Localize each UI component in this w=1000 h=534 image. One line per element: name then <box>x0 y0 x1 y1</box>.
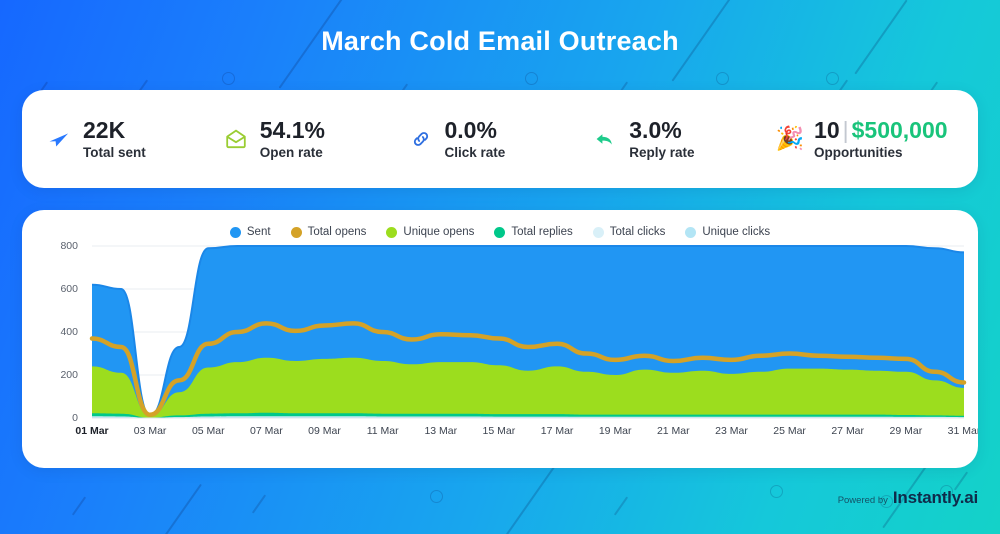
x-axis-tick: 17 Mar <box>541 425 574 437</box>
metric-label: Click rate <box>445 145 506 160</box>
metric-value: 54.1% <box>260 118 325 143</box>
x-axis-tick: 07 Mar <box>250 425 283 437</box>
send-icon <box>46 126 72 152</box>
x-axis-tick: 15 Mar <box>483 425 516 437</box>
x-axis-tick: 09 Mar <box>308 425 341 437</box>
x-axis-tick: 31 Mar <box>948 425 978 437</box>
legend-item-total-replies[interactable]: Total replies <box>494 226 572 238</box>
x-axis-tick: 03 Mar <box>134 425 167 437</box>
chart-plot-area: 8006004002000 01 Mar03 Mar05 Mar07 Mar09… <box>22 238 978 453</box>
envelope-icon <box>223 126 249 152</box>
metric-reply-rate: 3.0%Reply rate <box>568 118 753 161</box>
area-chart-svg <box>22 238 978 453</box>
x-axis-tick: 01 Mar <box>75 425 108 437</box>
metric-value-number: 0.0% <box>445 117 497 143</box>
legend-color-dot <box>685 227 696 238</box>
legend-label: Unique opens <box>403 226 474 238</box>
brand-name: Instantly.ai <box>893 488 978 508</box>
metric-value-number: 3.0% <box>629 117 681 143</box>
reply-icon <box>592 126 618 152</box>
metric-value-number: 10 <box>814 117 840 143</box>
x-axis-tick: 29 Mar <box>890 425 923 437</box>
legend-color-dot <box>386 227 397 238</box>
chart-legend: SentTotal opensUnique opensTotal replies… <box>22 210 978 238</box>
metric-value-number: 54.1% <box>260 117 325 143</box>
report-page: March Cold Email Outreach 22KTotal sent5… <box>0 0 1000 534</box>
metric-value-separator: | <box>843 117 849 143</box>
metric-label: Open rate <box>260 145 325 160</box>
legend-color-dot <box>291 227 302 238</box>
party-popper-icon: 🎉 <box>777 126 803 152</box>
legend-item-sent[interactable]: Sent <box>230 226 271 238</box>
metric-click-rate: 0.0%Click rate <box>384 118 569 161</box>
legend-item-unique-opens[interactable]: Unique opens <box>386 226 474 238</box>
legend-item-unique-clicks[interactable]: Unique clicks <box>685 226 770 238</box>
metric-value: 0.0% <box>445 118 506 143</box>
x-axis-tick: 11 Mar <box>367 425 399 437</box>
powered-by-label: Powered by <box>838 495 888 506</box>
legend-label: Total clicks <box>610 226 666 238</box>
metric-label: Opportunities <box>814 145 948 160</box>
metrics-card: 22KTotal sent54.1%Open rate0.0%Click rat… <box>22 90 978 188</box>
footer-brand: Powered by Instantly.ai <box>838 488 978 508</box>
legend-color-dot <box>230 227 241 238</box>
metric-open-rate: 54.1%Open rate <box>199 118 384 161</box>
chart-card: SentTotal opensUnique opensTotal replies… <box>22 210 978 468</box>
metric-label: Reply rate <box>629 145 694 160</box>
x-axis-tick: 13 Mar <box>424 425 457 437</box>
link-icon <box>408 126 434 152</box>
legend-item-total-opens[interactable]: Total opens <box>291 226 367 238</box>
legend-label: Unique clicks <box>702 226 770 238</box>
x-axis-tick: 23 Mar <box>715 425 748 437</box>
metric-value: 10|$500,000 <box>814 118 948 143</box>
metric-value-number: 22K <box>83 117 125 143</box>
legend-color-dot <box>494 227 505 238</box>
x-axis-tick: 21 Mar <box>657 425 690 437</box>
legend-color-dot <box>593 227 604 238</box>
x-axis-labels: 01 Mar03 Mar05 Mar07 Mar09 Mar11 Mar13 M… <box>22 425 978 439</box>
metric-opportunities: 🎉10|$500,000Opportunities <box>753 118 978 161</box>
x-axis-tick: 19 Mar <box>599 425 632 437</box>
metric-value: 22K <box>83 118 146 143</box>
legend-item-total-clicks[interactable]: Total clicks <box>593 226 666 238</box>
metric-total-sent: 22KTotal sent <box>22 118 199 161</box>
metric-value-amount: $500,000 <box>852 117 948 143</box>
metric-label: Total sent <box>83 145 146 160</box>
legend-label: Total replies <box>511 226 572 238</box>
x-axis-tick: 27 Mar <box>831 425 864 437</box>
legend-label: Total opens <box>308 226 367 238</box>
x-axis-tick: 05 Mar <box>192 425 225 437</box>
metric-value: 3.0% <box>629 118 694 143</box>
legend-label: Sent <box>247 226 271 238</box>
page-title: March Cold Email Outreach <box>0 26 1000 57</box>
x-axis-tick: 25 Mar <box>773 425 806 437</box>
